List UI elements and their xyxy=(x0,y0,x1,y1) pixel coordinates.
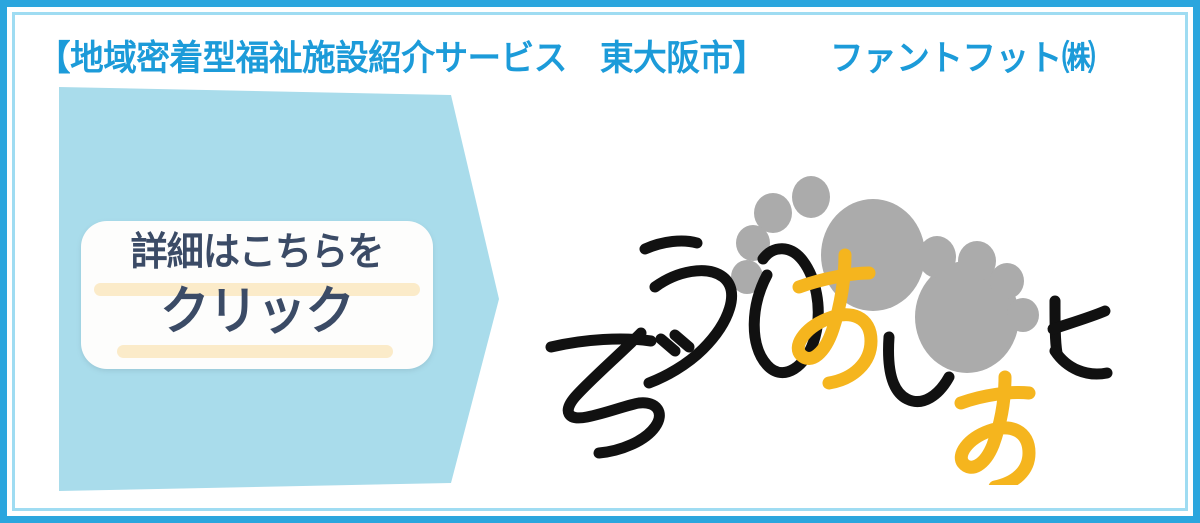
details-click-button[interactable]: 詳細はこちらを クリック xyxy=(81,221,433,369)
logo-char-u xyxy=(645,241,732,383)
banner-root: 【地域密着型福祉施設紹介サービス 東大阪市】 ファントフット㈱ 詳細はこちらを … xyxy=(0,0,1200,523)
banner-header: 【地域密着型福祉施設紹介サービス 東大阪市】 ファントフット㈱ xyxy=(37,31,1167,79)
cta-label-line1: 詳細はこちらを xyxy=(90,233,424,272)
highlight-bar-lower xyxy=(117,345,393,358)
logo-zou-no-ashiato xyxy=(515,165,1135,485)
logo-char-to xyxy=(1053,301,1107,374)
company-name: ファントフット㈱ xyxy=(830,30,1095,81)
page-title: 【地域密着型福祉施設紹介サービス 東大阪市】 xyxy=(37,30,766,81)
logo-char-a-second xyxy=(961,377,1029,485)
logo-char-zo xyxy=(551,333,689,453)
cta-label-line2: クリック xyxy=(90,285,424,340)
banner-canvas: 【地域密着型福祉施設紹介サービス 東大阪市】 ファントフット㈱ 詳細はこちらを … xyxy=(15,15,1185,508)
paw-print-right xyxy=(915,236,1039,373)
